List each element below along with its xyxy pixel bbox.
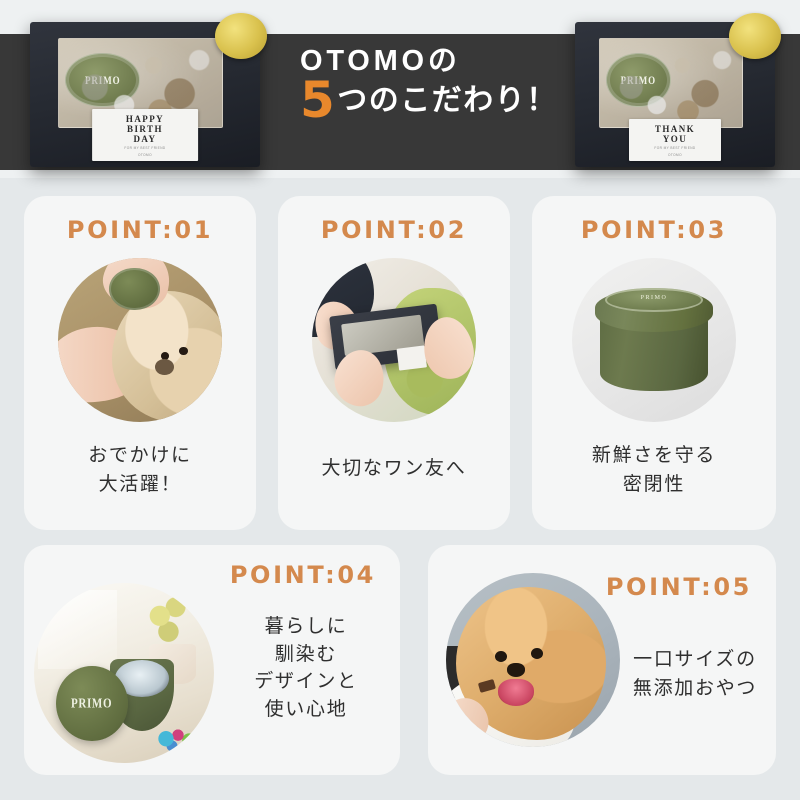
window-light [38, 590, 117, 669]
dog-eye-left [495, 651, 507, 662]
caption-line-2: 密閉性 [532, 470, 776, 499]
message-line-1: HAPPY [94, 114, 196, 124]
dog-open-mouth [498, 679, 534, 707]
point-label-04: POINT:04 [230, 561, 376, 589]
hero-right-package-photo: PRIMO THANK YOU FOR MY BEST FRIEND OTOMO [575, 22, 775, 167]
point-caption-03: 新鮮さを守る 密閉性 [532, 441, 776, 500]
primo-seal-icon: PRIMO [65, 53, 140, 107]
tin-top-seal-icon: PRIMO [605, 288, 703, 313]
point-caption-05: 一口サイズの 無添加おやつ [624, 645, 766, 704]
tin-brand-text: PRIMO [605, 295, 703, 301]
point-label-01: POINT:01 [24, 216, 256, 244]
package-message-label: HAPPY BIRTH DAY FOR MY BEST FRIEND OTOMO [92, 109, 198, 161]
point-photo-04: PRIMO [34, 583, 214, 763]
green-jar-icon [109, 268, 160, 311]
caption-line-1: 一口サイズの [624, 645, 766, 674]
candy-treats [153, 720, 203, 756]
dog-nose [507, 663, 525, 677]
point-caption-02: 大切なワン友へ [278, 454, 510, 483]
hero-headline-line1: OTOMOの [300, 46, 550, 78]
gold-sticker-icon [215, 13, 267, 59]
hero-left-package-photo: PRIMO HAPPY BIRTH DAY FOR MY BEST FRIEND… [30, 22, 260, 167]
tin-lid-icon: PRIMO [56, 666, 128, 742]
point-card-05[interactable]: POINT:05 一口サイズの 無添加おやつ [428, 545, 776, 775]
primo-seal-icon: PRIMO [606, 53, 671, 107]
message-brand: OTOMO [94, 154, 196, 158]
caption-line-1: 大切なワン友へ [278, 454, 510, 483]
point-card-01[interactable]: POINT:01 おでかけに 大活躍！ [24, 196, 256, 530]
caption-line-3: デザインと [224, 668, 388, 696]
point-label-05: POINT:05 [606, 573, 752, 601]
point-label-02: POINT:02 [278, 216, 510, 244]
package-message-label: THANK YOU FOR MY BEST FRIEND OTOMO [629, 119, 721, 161]
primo-seal-text: PRIMO [621, 74, 657, 87]
point-card-03[interactable]: POINT:03 PRIMO 新鮮さを守る 密閉性 [532, 196, 776, 530]
primo-seal-text: PRIMO [85, 74, 121, 87]
dog-eye-right [179, 347, 187, 355]
hero-headline: OTOMOの 5つのこだわり！ [300, 46, 550, 120]
point-photo-01 [58, 258, 222, 422]
message-sub: FOR MY BEST FRIEND [94, 147, 196, 151]
message-line-3: DAY [94, 134, 196, 144]
caption-line-1: 暮らしに [224, 613, 388, 641]
point-caption-04: 暮らしに 馴染む デザインと 使い心地 [224, 613, 388, 723]
message-line-2: YOU [631, 134, 719, 144]
caption-line-4: 使い心地 [224, 696, 388, 724]
caption-line-2: 大活躍！ [24, 470, 256, 499]
message-brand: OTOMO [631, 154, 719, 158]
point-caption-01: おでかけに 大活躍！ [24, 441, 256, 500]
dog-shape [112, 291, 222, 422]
page-root: PRIMO HAPPY BIRTH DAY FOR MY BEST FRIEND… [0, 0, 800, 800]
point-photo-03: PRIMO [572, 258, 736, 422]
gold-sticker-icon [729, 13, 781, 59]
dog-eye-right [531, 648, 543, 659]
caption-line-2: 馴染む [224, 641, 388, 669]
caption-line-2: 無添加おやつ [624, 674, 766, 703]
hero-headline-line2: 5つのこだわり！ [300, 80, 550, 120]
caption-line-1: 新鮮さを守る [532, 441, 776, 470]
message-line-2: BIRTH [94, 124, 196, 134]
package-window: PRIMO [599, 38, 743, 128]
point-label-03: POINT:03 [532, 216, 776, 244]
dog-snout [155, 359, 174, 375]
hero-number: 5 [300, 71, 336, 129]
point-photo-02 [312, 258, 476, 422]
message-line-1: THANK [631, 124, 719, 134]
point-photo-05 [446, 573, 620, 747]
lid-brand-text: PRIMO [71, 696, 112, 710]
hero-banner: PRIMO HAPPY BIRTH DAY FOR MY BEST FRIEND… [0, 0, 800, 178]
caption-line-1: おでかけに [24, 441, 256, 470]
point-card-02[interactable]: POINT:02 大切なワン友へ [278, 196, 510, 530]
hero-headline-rest: つのこだわり！ [337, 84, 558, 117]
message-sub: FOR MY BEST FRIEND [631, 147, 719, 151]
point-card-04[interactable]: POINT:04 PRIMO 暮らしに 馴染む デザインと 使い心地 [24, 545, 400, 775]
